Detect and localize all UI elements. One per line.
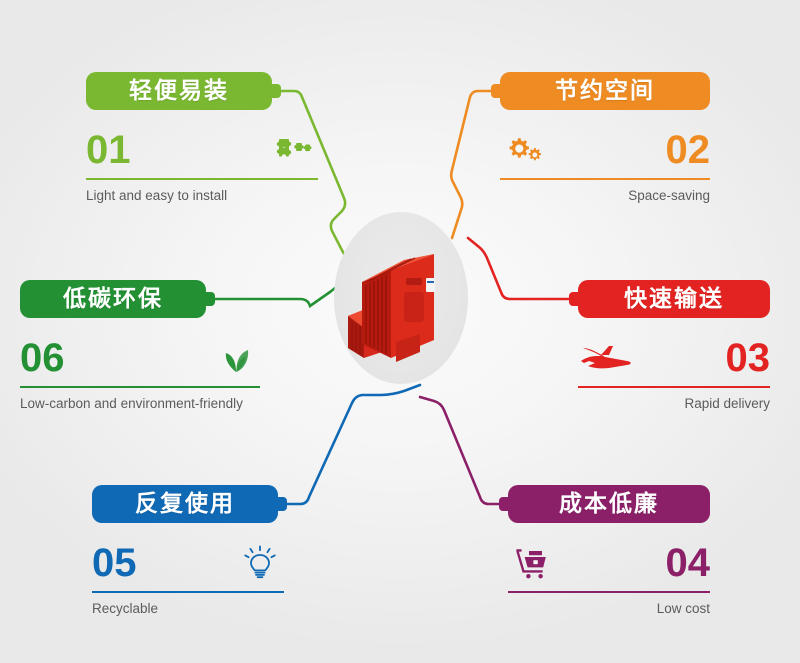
feature-tag-05[interactable]: 反复使用 bbox=[92, 485, 278, 523]
feature-number-06: 06 bbox=[20, 338, 65, 378]
feature-tag-label-04: 成本低廉 bbox=[559, 492, 659, 517]
lightbulb-icon bbox=[236, 542, 284, 584]
feature-block-05[interactable]: 反复使用 05 bbox=[92, 485, 284, 617]
feature-caption-02: Space-saving bbox=[500, 188, 710, 204]
feature-block-04[interactable]: 成本低廉 04 Low cost bbox=[508, 485, 710, 617]
feature-tag-label-03: 快速输送 bbox=[624, 287, 724, 312]
feature-number-03: 03 bbox=[726, 338, 771, 378]
feature-rule-04 bbox=[508, 591, 710, 593]
feature-tag-04[interactable]: 成本低廉 bbox=[508, 485, 710, 523]
feature-tag-01[interactable]: 轻便易装 bbox=[86, 72, 272, 110]
feature-rule-02 bbox=[500, 178, 710, 180]
shopping-cart-icon bbox=[508, 542, 556, 584]
feature-caption-05: Recyclable bbox=[92, 601, 284, 617]
feature-caption-04: Low cost bbox=[508, 601, 710, 617]
connector-line-04 bbox=[420, 397, 501, 504]
gears-icon bbox=[500, 129, 548, 171]
feature-number-01: 01 bbox=[86, 130, 131, 170]
feature-tag-06[interactable]: 低碳环保 bbox=[20, 280, 206, 318]
feature-tag-label-01: 轻便易装 bbox=[129, 79, 229, 104]
feature-tag-label-06: 低碳环保 bbox=[63, 287, 163, 312]
infographic-stage: 轻便易装 01 Light and easy to install 节约空间 bbox=[0, 0, 800, 663]
feature-meta-row-02: 02 bbox=[500, 124, 710, 176]
feature-block-02[interactable]: 节约空间 02 Space-saving bbox=[478, 72, 710, 204]
feature-block-01[interactable]: 轻便易装 01 Light and easy to install bbox=[86, 72, 318, 204]
feature-block-06[interactable]: 低碳环保 06 Low-carbon and environment-frien… bbox=[20, 280, 260, 412]
crate-main bbox=[362, 254, 435, 362]
feature-meta-row-04: 04 bbox=[508, 537, 710, 589]
center-product-medallion bbox=[334, 212, 468, 384]
feature-caption-06: Low-carbon and environment-friendly bbox=[20, 396, 260, 412]
feature-tag-label-02: 节约空间 bbox=[555, 79, 655, 104]
feature-number-02: 02 bbox=[666, 130, 711, 170]
feature-rule-03 bbox=[578, 386, 770, 388]
feature-number-05: 05 bbox=[92, 543, 137, 583]
feature-meta-row-01: 01 bbox=[86, 124, 318, 176]
connector-line-03 bbox=[468, 238, 571, 299]
red-crate-stack-image bbox=[334, 212, 468, 384]
feature-meta-row-05: 05 bbox=[92, 537, 284, 589]
feature-number-04: 04 bbox=[666, 543, 711, 583]
feature-rule-05 bbox=[92, 591, 284, 593]
feature-tag-label-05: 反复使用 bbox=[135, 492, 235, 517]
feature-tag-02[interactable]: 节约空间 bbox=[500, 72, 710, 110]
feature-meta-row-03: 03 bbox=[578, 332, 770, 384]
leaves-icon bbox=[212, 337, 260, 379]
airplane-icon bbox=[578, 337, 636, 379]
feature-caption-03: Rapid delivery bbox=[578, 396, 770, 412]
feature-rule-01 bbox=[86, 178, 318, 180]
feature-rule-06 bbox=[20, 386, 260, 388]
puzzle-pieces-icon bbox=[270, 129, 318, 171]
feature-tag-03[interactable]: 快速输送 bbox=[578, 280, 770, 318]
feature-caption-01: Light and easy to install bbox=[86, 188, 318, 204]
feature-block-03[interactable]: 快速输送 03 Rapid delivery bbox=[578, 280, 770, 412]
connector-line-05 bbox=[287, 385, 420, 504]
feature-meta-row-06: 06 bbox=[20, 332, 260, 384]
